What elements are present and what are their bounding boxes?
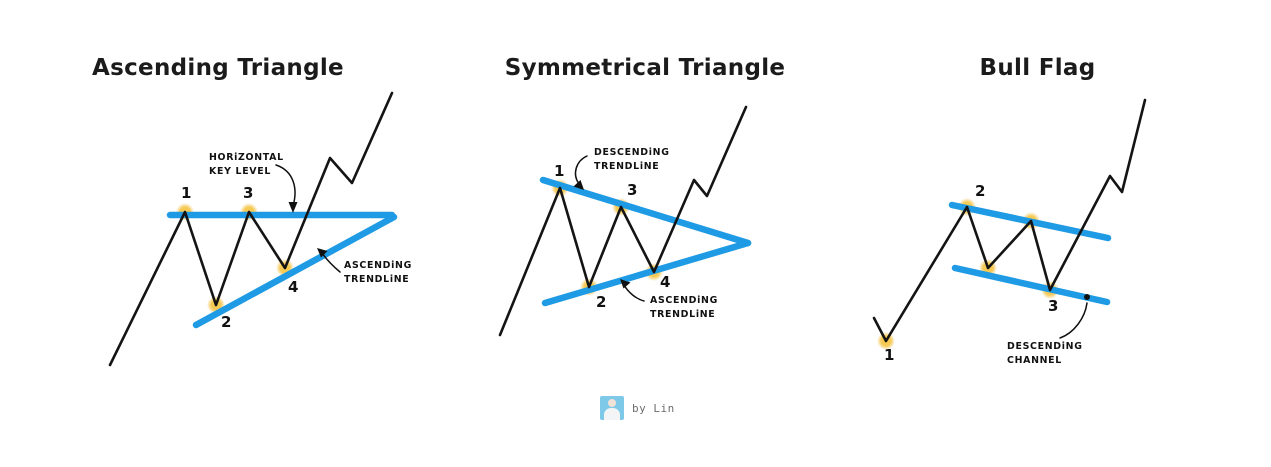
annotations-layer: HORiZONTAL KEY LEVEL ASCENDiNG TRENDLiNE… bbox=[209, 147, 1090, 366]
callout-arrow-head bbox=[289, 202, 298, 213]
pivot-label: 1 bbox=[181, 184, 191, 202]
pivot-label: 3 bbox=[1048, 297, 1058, 315]
credit-author-label: by Lin bbox=[632, 402, 675, 415]
callout-arrow-line bbox=[624, 285, 644, 301]
annotation-line-2: TRENDLiNE bbox=[650, 309, 715, 320]
callout-arrow-line bbox=[576, 156, 587, 184]
pivot-label: 2 bbox=[975, 182, 985, 200]
callout-arrow-line bbox=[322, 253, 340, 272]
pivot-labels-group: 1234 bbox=[181, 184, 298, 331]
annotation-line-1: DESCENDiNG bbox=[594, 147, 670, 158]
avatar-icon bbox=[600, 396, 624, 420]
pivot-label: 3 bbox=[243, 184, 253, 202]
pivot-label: 1 bbox=[884, 346, 894, 364]
annotation-line-1: DESCENDiNG bbox=[1007, 341, 1083, 352]
pivot-label: 2 bbox=[596, 293, 606, 311]
callout-arrow-line bbox=[276, 165, 295, 206]
pivot-label: 3 bbox=[627, 181, 637, 199]
trendline-ascending-trendline bbox=[196, 217, 394, 325]
pivot-label: 4 bbox=[660, 273, 670, 291]
annotation-descending-trendline: DESCENDiNG TRENDLiNE bbox=[574, 147, 670, 190]
annotation-line-2: KEY LEVEL bbox=[209, 166, 271, 177]
chart-ascending-triangle: 1234 bbox=[110, 93, 394, 365]
pivot-labels-group: 1234 bbox=[554, 162, 670, 311]
annotation-line-2: TRENDLiNE bbox=[344, 274, 409, 285]
callout-arrow-head bbox=[1084, 294, 1090, 300]
trendlines-group bbox=[952, 205, 1108, 302]
annotation-line-2: CHANNEL bbox=[1007, 355, 1062, 366]
pivot-label: 2 bbox=[221, 313, 231, 331]
pivot-label: 4 bbox=[288, 278, 298, 296]
pivot-label: 1 bbox=[554, 162, 564, 180]
annotation-line-1: HORiZONTAL bbox=[209, 152, 284, 163]
trendlines-group bbox=[543, 180, 748, 303]
callout-arrow-line bbox=[1060, 303, 1087, 338]
credit-block: by Lin bbox=[600, 396, 675, 420]
diagram-canvas: Ascending Triangle Symmetrical Triangle … bbox=[0, 0, 1271, 467]
price-path bbox=[874, 100, 1145, 341]
annotation-line-1: ASCENDiNG bbox=[650, 295, 718, 306]
trendline-ascending-trendline bbox=[545, 243, 748, 303]
annotation-line-1: ASCENDiNG bbox=[344, 260, 412, 271]
annotation-horizontal-key-level: HORiZONTAL KEY LEVEL bbox=[209, 152, 298, 213]
price-path-group bbox=[110, 93, 392, 365]
pivot-dots-group bbox=[176, 203, 294, 314]
price-path bbox=[110, 93, 392, 365]
chart-bull-flag: 231 bbox=[874, 100, 1145, 364]
price-path-group bbox=[874, 100, 1145, 341]
annotation-line-2: TRENDLiNE bbox=[594, 161, 659, 172]
